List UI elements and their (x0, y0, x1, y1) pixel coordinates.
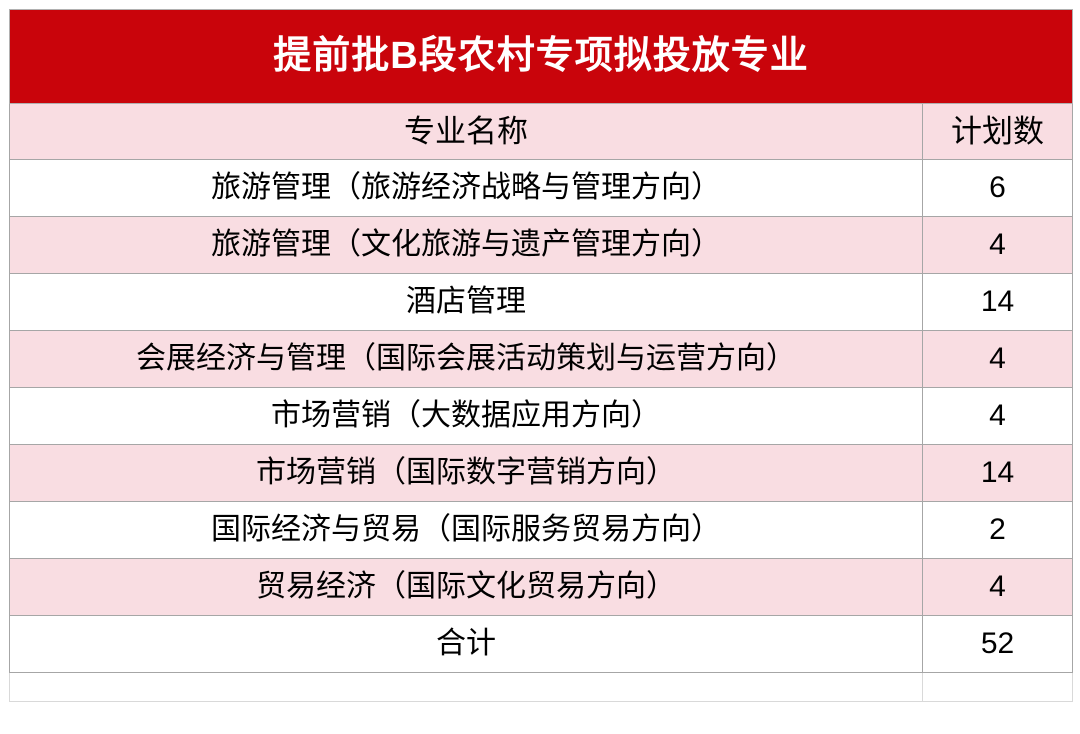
major-name: 会展经济与管理（国际会展活动策划与运营方向） (10, 331, 923, 388)
plan-count: 4 (923, 331, 1073, 388)
plan-count: 4 (923, 388, 1073, 445)
major-name: 市场营销（大数据应用方向） (10, 388, 923, 445)
major-name: 旅游管理（旅游经济战略与管理方向） (10, 160, 923, 217)
plan-table-container: 提前批B段农村专项拟投放专业 专业名称 计划数 旅游管理（旅游经济战略与管理方向… (9, 9, 1072, 702)
major-name: 贸易经济（国际文化贸易方向） (10, 559, 923, 616)
table-total-row: 合计 52 (10, 616, 1073, 673)
major-name: 市场营销（国际数字营销方向） (10, 445, 923, 502)
plan-count: 6 (923, 160, 1073, 217)
major-name: 酒店管理 (10, 274, 923, 331)
title-row: 提前批B段农村专项拟投放专业 (10, 10, 1073, 104)
table-row: 贸易经济（国际文化贸易方向） 4 (10, 559, 1073, 616)
plan-count: 2 (923, 502, 1073, 559)
total-label: 合计 (10, 616, 923, 673)
column-header-major: 专业名称 (10, 104, 923, 160)
table-row: 旅游管理（旅游经济战略与管理方向） 6 (10, 160, 1073, 217)
page-title: 提前批B段农村专项拟投放专业 (10, 10, 1073, 104)
major-name: 国际经济与贸易（国际服务贸易方向） (10, 502, 923, 559)
plan-count: 14 (923, 445, 1073, 502)
spreadsheet-sheet: 提前批B段农村专项拟投放专业 专业名称 计划数 旅游管理（旅游经济战略与管理方向… (0, 0, 1080, 734)
total-count: 52 (923, 616, 1073, 673)
plan-count: 4 (923, 217, 1073, 274)
plan-count: 4 (923, 559, 1073, 616)
major-name: 旅游管理（文化旅游与遗产管理方向） (10, 217, 923, 274)
plan-count: 14 (923, 274, 1073, 331)
table-header-row: 专业名称 计划数 (10, 104, 1073, 160)
table-blank-row (10, 673, 1073, 702)
table-row: 市场营销（国际数字营销方向） 14 (10, 445, 1073, 502)
table-row: 酒店管理 14 (10, 274, 1073, 331)
table-row: 国际经济与贸易（国际服务贸易方向） 2 (10, 502, 1073, 559)
admission-plan-table: 提前批B段农村专项拟投放专业 专业名称 计划数 旅游管理（旅游经济战略与管理方向… (9, 9, 1073, 702)
blank-major-cell (10, 673, 923, 702)
column-header-count: 计划数 (923, 104, 1073, 160)
table-row: 市场营销（大数据应用方向） 4 (10, 388, 1073, 445)
table-row: 旅游管理（文化旅游与遗产管理方向） 4 (10, 217, 1073, 274)
table-row: 会展经济与管理（国际会展活动策划与运营方向） 4 (10, 331, 1073, 388)
blank-count-cell (923, 673, 1073, 702)
